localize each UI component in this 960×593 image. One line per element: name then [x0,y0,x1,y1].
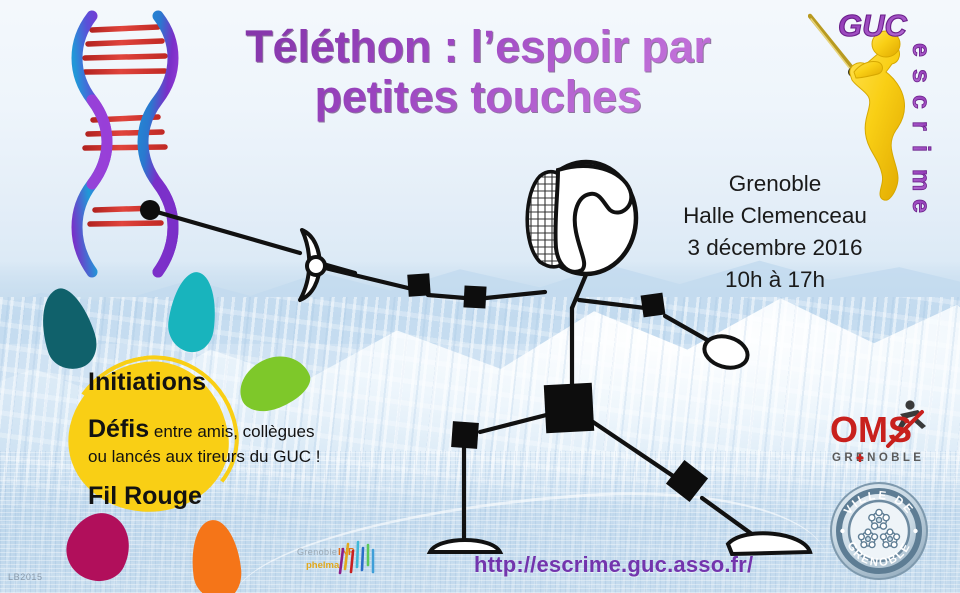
svg-text:e: e [907,199,935,213]
website-url[interactable]: http://escrime.guc.asso.fr/ [474,552,753,578]
poster-canvas: Téléthon : l’espoir par petites touches … [0,0,960,593]
inp-logo-line2: phelma [306,560,340,571]
inp-logo-line1: Grenoble [297,547,337,557]
offer-defis-line2: ou lancés aux tireurs du GUC ! [88,447,320,466]
svg-text:r: r [907,121,935,131]
guc-escrime-logo[interactable]: GUC e s c r i m e [808,2,960,218]
poster-title-line-1: Téléthon : l’espoir par [168,22,788,72]
svg-text:e: e [907,43,935,57]
oms-logo-text: OMS [830,409,912,450]
offer-fil-rouge: Fil Rouge [88,484,418,509]
event-hours: 10h à 17h [640,264,910,296]
svg-text:c: c [907,95,935,109]
offer-defis-rest: entre amis, collègues [149,422,314,441]
poster-title: Téléthon : l’espoir par petites touches [168,22,788,123]
svg-text:s: s [907,69,935,83]
oms-logo-subtitle: GRENOBLE [832,452,924,464]
offers-block: Initiations Défis entre amis, collègues … [88,370,418,509]
guc-logo-text: GUC [838,8,908,43]
offer-initiations: Initiations [88,370,418,395]
oms-grenoble-logo[interactable]: OMS GRENOBLE [826,398,944,476]
event-date: 3 décembre 2016 [640,232,910,264]
offer-defis-keyword: Défis [88,415,149,443]
svg-text:i: i [907,145,935,152]
poster-title-line-2: petites touches [168,72,788,122]
guc-logo-vertical-text: e s c r i m e [907,43,935,213]
ville-de-grenoble-logo[interactable]: VILLE DE GRENOBLE [830,482,928,580]
offer-defis: Défis entre amis, collègues ou lancés au… [88,413,418,468]
grenoble-inp-phelma-logo[interactable]: Grenoble INP phelma [296,537,386,581]
svg-text:m: m [907,169,935,191]
author-watermark: LB2015 [8,572,43,582]
